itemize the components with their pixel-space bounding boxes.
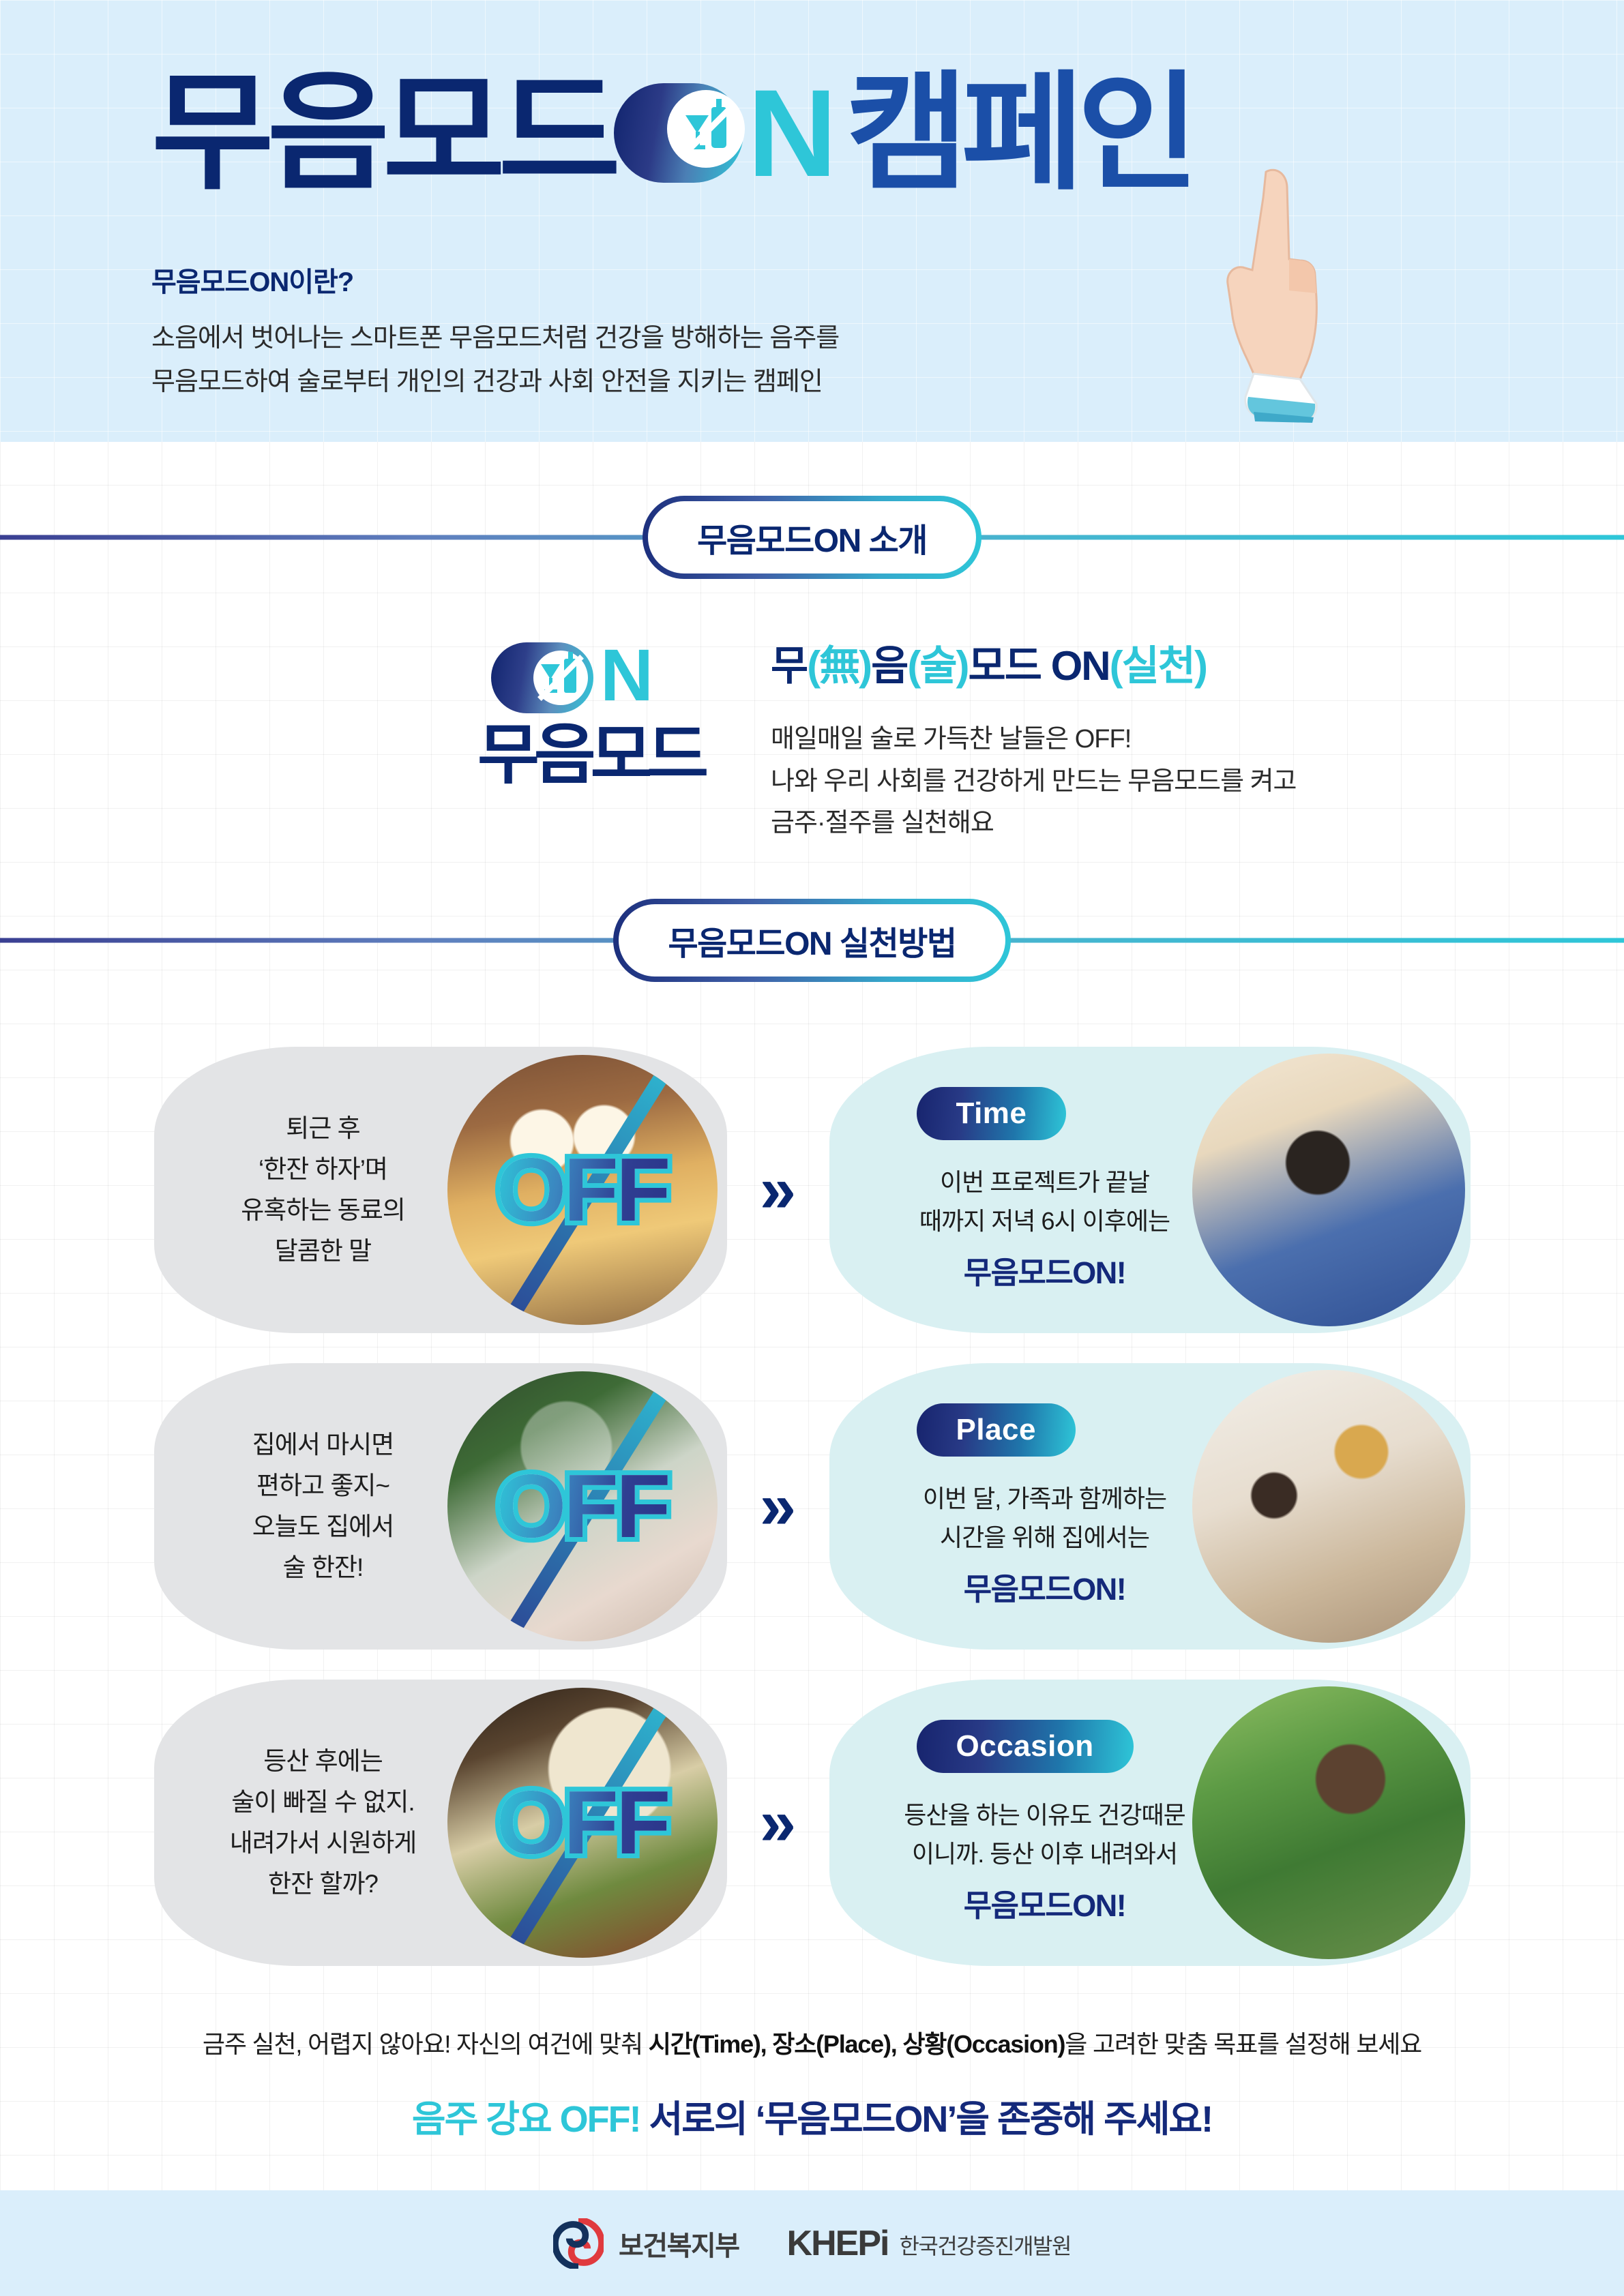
woman-hiking-photo: [1192, 1686, 1465, 1959]
off-line: 달콤한 말: [199, 1231, 447, 1272]
intro-heading-1: 무: [771, 643, 807, 689]
khepi-mark: KHEPi: [787, 2223, 889, 2264]
khepi-logo: KHEPi 한국건강증진개발원: [787, 2223, 1071, 2264]
man-reading-photo: [1192, 1054, 1465, 1326]
title-part-1: 무음모드: [151, 69, 614, 197]
practice-rows: 퇴근 후 ‘한잔 하자’며 유혹하는 동료의 달콤한 말 OFF OFF » T…: [0, 1047, 1624, 1966]
on-line: 이번 달, 가족과 함께하는: [879, 1480, 1211, 1519]
off-card-text: 퇴근 후 ‘한잔 하자’며 유혹하는 동료의 달콤한 말: [154, 1108, 447, 1272]
category-badge-place: Place: [917, 1403, 1076, 1457]
intro-heading-4: (술): [907, 643, 968, 689]
off-card: 등산 후에는 술이 빠질 수 없지. 내려가서 시원하게 한잔 할까? OFF …: [154, 1680, 727, 1966]
ministry-logo: 보건복지부: [553, 2218, 739, 2269]
on-line: 시간을 위해 집에서는: [879, 1519, 1211, 1557]
off-card: 집에서 마시면 편하고 좋지~ 오늘도 집에서 술 한잔! OFF OFF: [154, 1363, 727, 1650]
off-line: 한잔 할까?: [199, 1864, 447, 1905]
footer-note-b: 시간(Time), 장소(Place), 상황(Occasion): [649, 2030, 1065, 2058]
off-line: 유혹하는 동료의: [199, 1190, 447, 1231]
chevron-right-icon: »: [727, 1474, 829, 1539]
off-card: 퇴근 후 ‘한잔 하자’며 유혹하는 동료의 달콤한 말 OFF OFF: [154, 1047, 727, 1333]
on-line: 때까지 저녁 6시 이후에는: [879, 1202, 1211, 1241]
off-line: 술이 빠질 수 없지.: [199, 1782, 447, 1823]
on-card-text: Place 이번 달, 가족과 함께하는 시간을 위해 집에서는 무음모드ON!: [829, 1403, 1211, 1609]
off-line: 퇴근 후: [199, 1108, 447, 1149]
off-line: 등산 후에는: [199, 1741, 447, 1782]
section-title-practice: 무음모드ON 실천방법: [613, 899, 1010, 982]
intro-heading: 무(無)음(술)모드 ON(실천): [771, 644, 1297, 689]
on-strong-line: 무음모드ON!: [879, 1248, 1211, 1292]
on-line: 등산을 하는 이유도 건강때문: [879, 1796, 1211, 1835]
chevron-right-icon: »: [727, 1157, 829, 1223]
intro-heading-6: (실천): [1110, 643, 1207, 689]
hero-header: 무음모드 N 캠페인 무음모드ON이란? 소음에서 벗: [0, 0, 1624, 442]
category-badge-occasion: Occasion: [917, 1720, 1134, 1773]
hero-subtitle-block: 무음모드ON이란? 소음에서 벗어나는 스마트폰 무음모드처럼 건강을 방해하는…: [151, 260, 1624, 404]
off-badge: OFF: [497, 1461, 668, 1551]
hero-subtitle-question: 무음모드ON이란?: [151, 260, 1624, 299]
off-line: 내려가서 시원하게: [199, 1823, 447, 1864]
off-line: 오늘도 집에서: [199, 1506, 447, 1547]
pointing-hand-icon: [1180, 157, 1385, 423]
on-card-text: Time 이번 프로젝트가 끝날 때까지 저녁 6시 이후에는 무음모드ON!: [829, 1087, 1211, 1292]
practice-row: 등산 후에는 술이 빠질 수 없지. 내려가서 시원하게 한잔 할까? OFF …: [0, 1680, 1624, 1966]
footer-slogan-navy: 서로의 ‘무음모드ON’을 존중해 주세요!: [640, 2099, 1213, 2140]
beer-cheers-photo: OFF OFF: [447, 1055, 718, 1325]
family-together-photo: [1192, 1370, 1465, 1643]
off-card-text: 집에서 마시면 편하고 좋지~ 오늘도 집에서 술 한잔!: [154, 1425, 447, 1588]
off-badge: OFF: [497, 1145, 668, 1235]
no-alcohol-icon-small: [533, 651, 588, 705]
section-header-intro: 무음모드ON 소개: [0, 496, 1624, 578]
footer-slogan-cyan: 음주 강요 OFF!: [412, 2099, 640, 2140]
footer-note-a: 금주 실천, 어렵지 않아요! 자신의 여건에 맞춰: [203, 2030, 649, 2058]
on-line: 이번 프로젝트가 끝날: [879, 1163, 1211, 1202]
khepi-org-name: 한국건강증진개발원: [899, 2229, 1070, 2264]
muum-mode-on-logo-icon: N: [491, 642, 703, 713]
title-part-2: 캠페인: [846, 69, 1192, 197]
hero-subtitle-line-1: 소음에서 벗어나는 스마트폰 무음모드처럼 건강을 방해하는 음주를: [151, 317, 1624, 361]
on-card-text: Occasion 등산을 하는 이유도 건강때문 이니까. 등산 이후 내려와서…: [829, 1720, 1211, 1925]
on-strong-line: 무음모드ON!: [879, 1881, 1211, 1925]
logo-letter-n: N: [600, 638, 653, 712]
category-badge-time: Time: [917, 1087, 1067, 1140]
makgeolli-bowls-photo: OFF OFF: [447, 1688, 718, 1958]
section-title-intro: 무음모드ON 소개: [643, 496, 981, 579]
organization-logo-bar: 보건복지부 KHEPi 한국건강증진개발원: [0, 2190, 1624, 2296]
on-line: 이니까. 등산 이후 내려와서: [879, 1835, 1211, 1874]
on-card: Occasion 등산을 하는 이유도 건강때문 이니까. 등산 이후 내려와서…: [829, 1680, 1471, 1966]
off-line: 술 한잔!: [199, 1547, 447, 1588]
off-line: 편하고 좋지~: [199, 1465, 447, 1506]
intro-line-1: 매일매일 술로 가득찬 날들은 OFF!: [771, 719, 1297, 761]
title-letter-n: N: [748, 71, 833, 195]
intro-section: N 무음모드 무(無)음(술)모드 ON(실천) 매일매일 술로 가득찬 날들은…: [0, 578, 1624, 845]
footer-slogan: 음주 강요 OFF! 서로의 ‘무음모드ON’을 존중해 주세요!: [0, 2089, 1624, 2143]
footer-note: 금주 실천, 어렵지 않아요! 자신의 여건에 맞춰 시간(Time), 장소(…: [0, 2025, 1624, 2060]
on-card: Time 이번 프로젝트가 끝날 때까지 저녁 6시 이후에는 무음모드ON!: [829, 1047, 1471, 1333]
page-title: 무음모드 N 캠페인: [151, 65, 1624, 201]
on-card: Place 이번 달, 가족과 함께하는 시간을 위해 집에서는 무음모드ON!: [829, 1363, 1471, 1650]
intro-heading-3: 음: [871, 643, 907, 689]
off-card-text: 등산 후에는 술이 빠질 수 없지. 내려가서 시원하게 한잔 할까?: [154, 1741, 447, 1905]
on-strong-line: 무음모드ON!: [879, 1564, 1211, 1609]
ministry-name: 보건복지부: [619, 2224, 739, 2263]
intro-line-2: 나와 우리 사회를 건강하게 만드는 무음모드를 켜고: [771, 761, 1297, 803]
no-alcohol-icon: [677, 100, 735, 158]
poster-page: 무음모드 N 캠페인 무음모드ON이란? 소음에서 벗: [0, 0, 1624, 2143]
intro-text-block: 무(無)음(술)모드 ON(실천) 매일매일 술로 가득찬 날들은 OFF! 나…: [771, 637, 1297, 845]
intro-heading-5: 모드 ON: [969, 643, 1110, 689]
intro-line-3: 금주·절주를 실천해요: [771, 803, 1297, 845]
section-header-practice: 무음모드ON 실천방법: [0, 899, 1624, 981]
chevron-right-icon: »: [727, 1790, 829, 1855]
logo-wordmark: 무음모드: [477, 723, 730, 788]
practice-row: 집에서 마시면 편하고 좋지~ 오늘도 집에서 술 한잔! OFF OFF » …: [0, 1363, 1624, 1650]
soju-pouring-photo: OFF OFF: [447, 1371, 718, 1641]
on-toggle-logo-icon: N: [614, 79, 818, 187]
footer-note-c: 을 고려한 맞춤 목표를 설정해 보세요: [1065, 2030, 1421, 2058]
toggle-knob-shape: [667, 90, 745, 168]
practice-row: 퇴근 후 ‘한잔 하자’며 유혹하는 동료의 달콤한 말 OFF OFF » T…: [0, 1047, 1624, 1333]
hero-subtitle-line-2: 무음모드하여 술로부터 개인의 건강과 사회 안전을 지키는 캠페인: [151, 361, 1624, 404]
korea-government-taegeuk-icon: [553, 2218, 604, 2269]
off-line: 집에서 마시면: [199, 1425, 447, 1465]
intro-logo: N 무음모드: [477, 637, 723, 788]
intro-heading-2: (無): [807, 643, 871, 689]
off-badge: OFF: [497, 1778, 668, 1868]
off-line: ‘한잔 하자’며: [199, 1149, 447, 1190]
